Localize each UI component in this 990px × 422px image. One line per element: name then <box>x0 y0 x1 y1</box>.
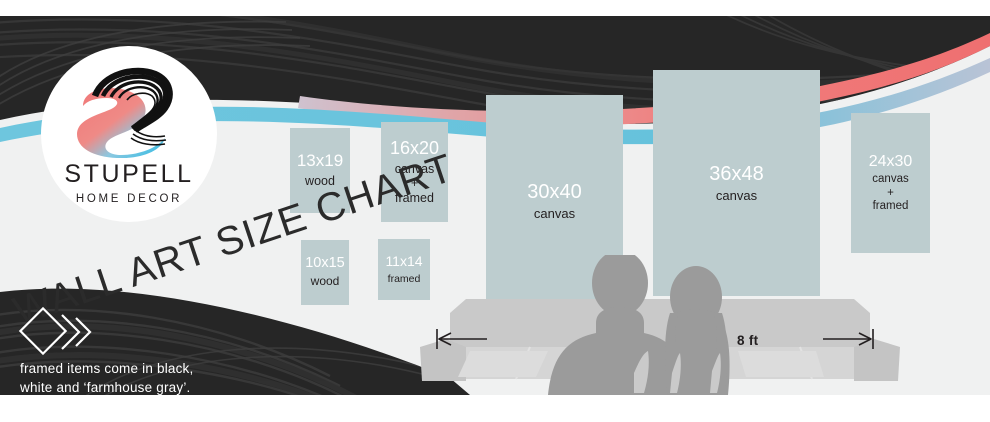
frame-type-label: framed <box>388 273 421 285</box>
brand-name: STUPELL <box>64 160 193 189</box>
frame-type-label: wood <box>311 275 340 289</box>
brand-logo: STUPELL HOME DECOR <box>41 46 217 222</box>
frame-type-label: canvas + framed <box>872 173 908 213</box>
frame-30x40[interactable]: 30x40 canvas <box>486 95 623 307</box>
frame-size-label: 10x15 <box>305 256 345 272</box>
brand-tagline: HOME DECOR <box>76 193 182 205</box>
frame-size-label: 24x30 <box>869 153 913 171</box>
frame-type-label: canvas <box>716 188 757 203</box>
frame-36x48[interactable]: 36x48 canvas <box>653 70 820 296</box>
dimension-label: 8 ft <box>737 333 758 348</box>
stupell-swoosh-logo <box>69 60 189 158</box>
frame-24x30[interactable]: 24x30 canvas + framed <box>851 113 930 253</box>
frame-color-note: framed items come in black, white and ‘f… <box>20 360 193 397</box>
frame-type-label: canvas <box>534 206 575 221</box>
frame-type-line: + <box>872 187 908 200</box>
frame-type-line: canvas <box>872 173 908 186</box>
bottom-white-strip <box>0 395 990 422</box>
frame-type-line: framed <box>872 200 908 213</box>
frame-size-label: 30x40 <box>527 181 582 203</box>
frame-11x14[interactable]: 11x14 framed <box>378 239 430 300</box>
frame-10x15[interactable]: 10x15 wood <box>301 240 349 305</box>
frame-size-label: 11x14 <box>385 254 422 269</box>
top-white-strip <box>0 0 990 16</box>
frame-size-label: 13x19 <box>297 152 343 171</box>
caption-line-1: framed items come in black, <box>20 360 193 379</box>
diamond-chevron-icon <box>18 306 104 358</box>
size-chart-infographic: STUPELL HOME DECOR WALL ART SIZE CHART f… <box>0 0 990 422</box>
frame-size-label: 36x48 <box>709 163 764 185</box>
